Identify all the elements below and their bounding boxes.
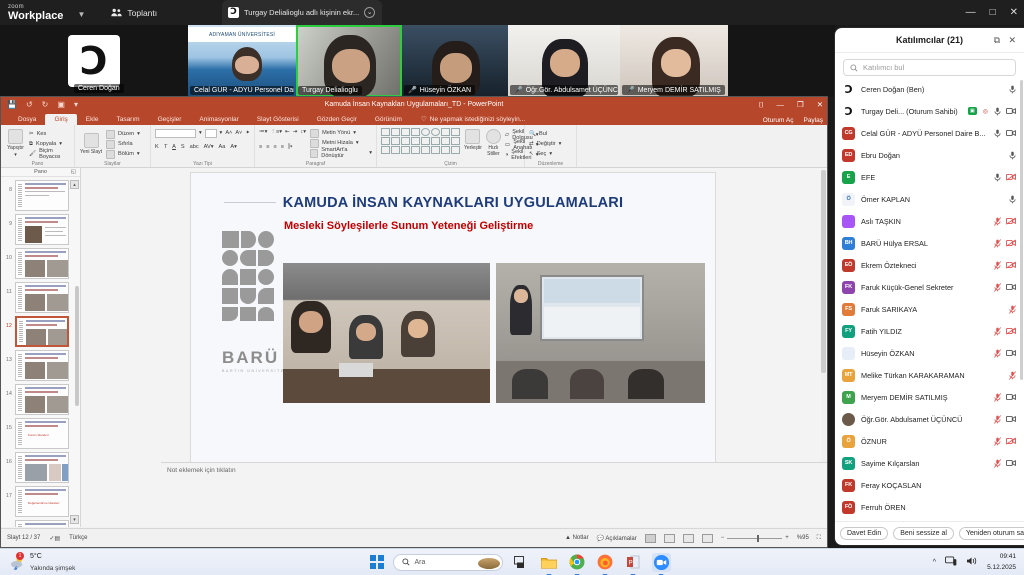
camera-icon xyxy=(1006,459,1016,467)
avatar: BH xyxy=(842,237,855,250)
participant-name: Ebru Doğan xyxy=(861,151,1003,160)
avatar: Ö xyxy=(842,193,855,206)
mic-off-icon xyxy=(1009,371,1016,380)
clear-format-icon[interactable]: ✦ xyxy=(245,130,250,136)
paste-icon xyxy=(8,129,23,144)
mic-off-icon xyxy=(994,327,1001,336)
participant-media-icons xyxy=(994,261,1016,270)
sign-in-button[interactable]: Oturum Aç xyxy=(763,117,794,124)
text-direction-button[interactable]: Metin Yönü▾ xyxy=(310,128,372,138)
slide-thumbnail-preview: Değerlendirme İdareleri xyxy=(15,486,69,517)
columns-icon[interactable]: ⫿▾ xyxy=(288,144,293,151)
thumbnail-pane-label: Pano xyxy=(34,169,47,175)
ribbon-group-slides: Yeni Slayt Düzen▾ Sıfırla Bölüm▾ Slaytla… xyxy=(75,125,151,167)
participant-row[interactable]: SKSayime Kılçarslan xyxy=(835,452,1024,474)
search-icon xyxy=(402,558,410,566)
language-indicator[interactable]: Türkçe xyxy=(69,535,87,541)
character-spacing-icon[interactable]: AV▾ xyxy=(204,144,214,150)
participant-media-icons xyxy=(994,173,1016,182)
minimize-button[interactable]: — xyxy=(776,100,784,109)
participant-media-icons xyxy=(994,459,1016,468)
invite-button[interactable]: Davet Edin xyxy=(840,527,888,540)
ribbon-tab-geçişler[interactable]: Geçişler xyxy=(149,116,191,125)
windows-taskbar: 1 5°C Yakında şimşek Ara xyxy=(0,548,1024,575)
strikethrough-button[interactable]: abc xyxy=(190,144,199,150)
volume-icon[interactable] xyxy=(966,553,978,571)
layout-button[interactable]: Düzen▾ xyxy=(106,129,140,139)
powerpoint-window-controls: ⌷ — ❐ ✕ xyxy=(759,100,823,110)
participant-name: BARÜ Hülya ERSAL xyxy=(861,239,988,248)
select-button[interactable]: ↖Seç▾ xyxy=(529,149,572,159)
meeting-tab-more-icon[interactable]: ⌄ xyxy=(364,7,375,18)
participant-row[interactable]: FKFeray KOÇASLAN xyxy=(835,474,1024,496)
align-left-icon[interactable]: ≡ xyxy=(259,144,262,150)
restore-button[interactable]: ❐ xyxy=(797,100,804,109)
new-slide-button[interactable]: Yeni Slayt xyxy=(79,127,103,159)
participant-row[interactable]: BHBARÜ Hülya ERSAL xyxy=(835,232,1024,254)
participant-row[interactable]: Hüseyin ÖZKAN xyxy=(835,342,1024,364)
ribbon-group-clipboard: Yapıştır ▾ ✂Kes ⧉Kopyala▾ 🖌Biçim Boyacıs… xyxy=(1,125,75,167)
new-slide-icon xyxy=(84,133,99,148)
reset-button[interactable]: Sıfırla xyxy=(106,139,140,149)
meeting-tab-label: Turgay Delialioglu adlı kişinin ekr... xyxy=(244,8,359,17)
host-badge: ▣ xyxy=(968,107,977,115)
ribbon-group-label: Çizim xyxy=(377,161,524,167)
meeting-tab[interactable]: Ɔ Turgay Delialioglu adlı kişinin ekr...… xyxy=(222,0,382,25)
participant-media-icons xyxy=(994,239,1016,248)
task-view-icon[interactable] xyxy=(512,553,531,572)
replace-button[interactable]: ⇄Değiştir▾ xyxy=(529,139,572,149)
mic-off-icon xyxy=(994,349,1001,358)
slide-brand: BARÜ BARTIN ÜNİVERSİTESİ xyxy=(222,348,291,373)
participant-media-icons xyxy=(994,129,1016,138)
ribbon-tab-slayt-gösterisi[interactable]: Slayt Gösterisi xyxy=(248,116,308,125)
taskbar-apps: Ara P xyxy=(370,553,671,572)
bullets-icon[interactable]: ≔▾ xyxy=(259,129,267,135)
participant-row[interactable]: MMeryem DEMİR SATILMIŞ xyxy=(835,386,1024,408)
weather-description: Yakında şimşek xyxy=(30,565,75,572)
avatar xyxy=(842,413,855,426)
slide-thumbnail-preview: Kurum İdareleri xyxy=(15,418,69,449)
ribbon-tab-giriş[interactable]: Giriş xyxy=(45,114,76,125)
zoom-brand-small: zoom xyxy=(8,4,63,10)
slide-thumbnail-number: 14 xyxy=(3,384,12,397)
bold-button[interactable]: K xyxy=(155,144,159,150)
avatar: M xyxy=(842,391,855,404)
video-tile-active-speaker[interactable]: Turgay Delialioglu xyxy=(296,25,402,97)
camera-icon xyxy=(1006,129,1016,137)
camera-off-icon xyxy=(1006,327,1016,335)
people-icon xyxy=(111,8,122,17)
slide-thumbnail-number: 15 xyxy=(3,418,12,431)
increase-font-icon[interactable]: A˄ xyxy=(225,130,232,136)
slide-counter: Slayt 12 / 37 xyxy=(7,535,40,541)
participant-name: Fatih YILDIZ xyxy=(861,327,988,336)
camera-icon xyxy=(1006,393,1016,401)
windows-start-icon[interactable] xyxy=(370,555,384,569)
camera-icon xyxy=(1006,107,1016,115)
close-button[interactable]: ✕ xyxy=(817,100,823,109)
close-icon[interactable]: ✕ xyxy=(1008,35,1016,46)
search-icon xyxy=(850,64,858,72)
zoom-out-icon[interactable]: − xyxy=(721,535,725,541)
slide-editor[interactable]: KAMUDA İNSAN KAYNAKLARI UYGULAMALARI Mes… xyxy=(81,168,827,527)
normal-view-button[interactable] xyxy=(645,534,656,543)
participant-row[interactable]: FSFaruk SARIKAYA xyxy=(835,298,1024,320)
notes-pane[interactable]: Not eklemek için tıklatın xyxy=(161,462,827,527)
participant-row[interactable]: FKFaruk Küçük-Genel Sekreter xyxy=(835,276,1024,298)
zoom-level: %95 xyxy=(797,535,809,541)
increase-indent-icon[interactable]: ⇥ xyxy=(293,129,298,135)
video-tile[interactable]: 🎤 Öğr.Gör. Abdulsamet ÜÇÜNCÜ xyxy=(508,25,620,97)
slide-thumbnail-preview xyxy=(15,316,69,347)
search-icon: 🔍 xyxy=(529,131,536,137)
participant-media-icons xyxy=(994,327,1016,336)
comments-button[interactable]: 💬 Açıklamalar xyxy=(597,535,637,542)
participant-row[interactable]: FYFatih YILDIZ xyxy=(835,320,1024,342)
mic-off-icon xyxy=(1009,305,1016,314)
clock-date: 5.12.2025 xyxy=(987,564,1016,571)
slide-title: KAMUDA İNSAN KAYNAKLARI UYGULAMALARI xyxy=(191,195,715,211)
zoom-minimize-button[interactable]: — xyxy=(966,7,976,18)
spellcheck-icon[interactable]: ✓▤ xyxy=(49,535,60,542)
mic-off-icon xyxy=(994,283,1001,292)
participant-media-icons xyxy=(994,415,1016,424)
slide-thumbnail-preview xyxy=(15,350,69,381)
powerpoint-status-bar: Slayt 12 / 37 ✓▤ Türkçe ▲ Notlar 💬 Açıkl… xyxy=(1,528,827,547)
participant-row[interactable]: Aslı TAŞKIN xyxy=(835,210,1024,232)
participant-media-icons xyxy=(994,217,1016,226)
camera-icon xyxy=(1006,349,1016,357)
participants-panel-title: Katılımcılar (21) xyxy=(896,35,963,45)
notes-button[interactable]: ▲ Notlar xyxy=(565,535,589,541)
scroll-up-icon[interactable]: ▴ xyxy=(70,180,79,189)
collapse-icon[interactable]: ◱ xyxy=(71,169,76,175)
convert-smartart-button[interactable]: SmartArt'a Dönüştür▾ xyxy=(310,148,372,158)
participant-row[interactable]: Öğr.Gör. Abdulsamet ÜÇÜNCÜ xyxy=(835,408,1024,430)
video-tile-name: Ceren Doğan xyxy=(74,84,124,93)
participant-name: Ömer KAPLAN xyxy=(861,195,1003,204)
current-slide[interactable]: KAMUDA İNSAN KAYNAKLARI UYGULAMALARI Mes… xyxy=(191,173,715,469)
slide-thumbnail[interactable]: 18 xyxy=(1,517,80,527)
search-placeholder: Ara xyxy=(415,559,426,566)
participant-name: Ceren Doğan (Ben) xyxy=(861,85,1003,94)
mic-off-icon xyxy=(994,261,1001,270)
section-button[interactable]: Bölüm▾ xyxy=(106,149,140,159)
paste-button[interactable]: Yapıştır ▾ xyxy=(5,127,26,159)
format-painter-button[interactable]: 🖌Biçim Boyacısı xyxy=(29,149,70,159)
participants-panel-header: Katılımcılar (21) ⧉ ✕ xyxy=(835,28,1024,53)
video-tile[interactable]: ADIYAMAN ÜNİVERSİTESİ Celal GÜR - ADYÜ P… xyxy=(188,25,296,97)
font-family-input[interactable] xyxy=(155,129,196,138)
zoom-icon[interactable] xyxy=(652,553,671,572)
mic-off-icon xyxy=(994,459,1001,468)
fit-to-window-icon[interactable]: ⛶ xyxy=(817,535,821,542)
participant-row[interactable]: EÖEkrem Öztekneci xyxy=(835,254,1024,276)
slide-sorter-button[interactable] xyxy=(664,534,675,543)
ribbon-group-label: Slaytlar xyxy=(75,161,150,167)
slide-thumbnail-number: 12 xyxy=(3,316,12,329)
mic-icon xyxy=(1009,151,1016,160)
replace-icon: ⇄ xyxy=(529,141,534,147)
effects-icon: ◑ xyxy=(505,152,508,158)
slide-thumbnail[interactable]: 13 xyxy=(1,347,80,381)
participant-name: Ekrem Öztekneci xyxy=(861,261,988,270)
search-input[interactable]: Ara xyxy=(393,554,503,571)
zoom-brand-big: Workplace xyxy=(8,11,63,22)
participant-name: Aslı TAŞKIN xyxy=(861,217,988,226)
avatar: Ɔ xyxy=(842,105,855,118)
thumbnail-list[interactable]: 89101112131415Kurum İdareleri1617Değerle… xyxy=(1,177,80,527)
find-button[interactable]: 🔍Bul xyxy=(529,129,572,139)
zoom-titlebar: zoom Workplace ▼ Toplantı Ɔ Turgay Delia… xyxy=(0,0,1024,25)
paste-dropdown-icon[interactable]: ▾ xyxy=(14,152,17,158)
avatar: ED xyxy=(842,149,855,162)
taskbar-weather-widget[interactable]: 1 5°C Yakında şimşek xyxy=(0,552,75,573)
align-text-icon xyxy=(310,139,319,148)
video-tile-name: 🎤 Hüseyin ÖZKAN xyxy=(404,85,475,95)
quick-styles-icon xyxy=(486,129,501,144)
avatar: FÖ xyxy=(842,501,855,514)
thumbnail-pane-header: Pano ◱ xyxy=(1,168,80,177)
scissors-icon: ✂ xyxy=(29,131,34,137)
participant-row[interactable]: ƆTurgay Deli... (Oturum Sahibi)▣◎ xyxy=(835,100,1024,122)
ribbon-group-label: Pano xyxy=(1,161,74,167)
show-hidden-icons-chevron[interactable]: ^ xyxy=(933,559,936,566)
slide-thumbnail-preview xyxy=(15,214,69,245)
editor-scrollbar[interactable] xyxy=(821,170,826,509)
participant-name: Turgay Deli... (Oturum Sahibi) xyxy=(861,107,962,116)
chrome-icon[interactable] xyxy=(568,553,587,572)
justify-icon[interactable]: ≡ xyxy=(281,144,284,150)
participant-name: Öğr.Gör. Abdulsamet ÜÇÜNCÜ xyxy=(861,415,988,424)
avatar: Ɔ xyxy=(68,35,120,87)
participant-row[interactable]: FÖFerruh ÖREN xyxy=(835,496,1024,518)
participant-row[interactable]: ÖÖmer KAPLAN xyxy=(835,188,1024,210)
popout-icon[interactable]: ⧉ xyxy=(994,35,1000,46)
nav-meetings[interactable]: Toplantı xyxy=(111,8,157,18)
participant-media-icons xyxy=(1009,305,1016,314)
system-tray: ^ 09:41 5.12.2025 xyxy=(933,553,1016,572)
mic-off-icon: 🎤 xyxy=(408,86,417,94)
ribbon: Yapıştır ▾ ✂Kes ⧉Kopyala▾ 🖌Biçim Boyacıs… xyxy=(1,125,827,168)
nav-meetings-label: Toplantı xyxy=(127,8,157,18)
office-icon[interactable]: P xyxy=(624,553,643,572)
participant-name: Melike Türkan KARAKARAMAN xyxy=(861,371,1003,380)
participant-name: Hüseyin ÖZKAN xyxy=(861,349,988,358)
weather-icon: 1 xyxy=(10,555,25,570)
italic-button[interactable]: T xyxy=(164,144,167,150)
participants-search-input[interactable]: Katılımcı bul xyxy=(843,59,1016,76)
camera-off-icon xyxy=(1006,437,1016,445)
font-size-input[interactable] xyxy=(205,129,217,138)
mute-me-button[interactable]: Beni sessize al xyxy=(893,527,954,540)
ribbon-tab-dosya[interactable]: Dosya xyxy=(9,116,45,125)
powerpoint-window: 💾 ↺ ↻ ▣ ▾ Kamuda İnsan Kaynakları Uygula… xyxy=(0,96,828,548)
slide-brand-subtitle: BARTIN ÜNİVERSİTESİ xyxy=(222,369,291,373)
decrease-font-icon[interactable]: A˅ xyxy=(235,130,242,136)
text-direction-icon xyxy=(310,129,319,138)
video-tile[interactable]: 🎤 Meryem DEMİR SATILMIŞ xyxy=(620,25,728,97)
participant-media-icons xyxy=(994,437,1016,446)
decrease-indent-icon[interactable]: ⇤ xyxy=(285,129,290,135)
camera-off-icon xyxy=(1006,239,1016,247)
file-explorer-icon[interactable] xyxy=(540,553,559,572)
reset-icon xyxy=(106,140,115,149)
scroll-down-icon[interactable]: ▾ xyxy=(70,515,79,524)
search-highlight-image xyxy=(478,558,500,569)
participant-name: EFE xyxy=(861,173,988,182)
line-spacing-icon[interactable]: ↕▾ xyxy=(300,129,306,135)
ribbon-tab-animasyonlar[interactable]: Animasyonlar xyxy=(190,116,247,125)
participants-list[interactable]: ƆCeren Doğan (Ben)ƆTurgay Deli... (Oturu… xyxy=(835,78,1024,521)
ribbon-right-actions: Oturum Aç Paylaş xyxy=(763,117,823,124)
zoom-maximize-button[interactable]: □ xyxy=(990,7,996,18)
participants-scrollbar[interactable] xyxy=(1020,80,1023,380)
ribbon-group-font: ▾ ▾ A˄A˅ ✦ K T A S abc AV▾ Aa A▾ Yazı Ti… xyxy=(151,125,255,167)
smartart-icon xyxy=(310,149,318,158)
underline-button[interactable]: A xyxy=(172,144,176,150)
shadow-button[interactable]: S xyxy=(181,144,185,150)
tell-me-label: Ne yapmak istediğinizi söyleyin... xyxy=(430,116,525,123)
participant-media-icons xyxy=(994,283,1016,292)
slide-thumbnail-number: 16 xyxy=(3,452,12,465)
thumbnail-scrollbar[interactable] xyxy=(75,286,79,406)
participants-search-placeholder: Katılımcı bul xyxy=(863,63,904,72)
align-right-icon[interactable]: ≡ xyxy=(274,144,277,150)
participant-row[interactable]: EEFE xyxy=(835,166,1024,188)
participant-row[interactable]: ÖÖZNUR xyxy=(835,430,1024,452)
slide-thumbnail[interactable]: 8 xyxy=(1,177,80,211)
slide-thumbnail[interactable]: 11 xyxy=(1,279,80,313)
slide-thumbnail[interactable]: 12 xyxy=(1,313,80,347)
video-tile-self[interactable]: Ɔ Ceren Doğan xyxy=(0,25,188,97)
ribbon-group-label: Paragraf xyxy=(255,161,376,167)
video-tile-name: Celal GÜR - ADYÜ Personel Dair... xyxy=(190,86,294,95)
slide-thumbnail-number: 18 xyxy=(3,520,12,527)
avatar: CG xyxy=(842,127,855,140)
participant-name: Feray KOÇASLAN xyxy=(861,481,1010,490)
taskbar-clock[interactable]: 09:41 5.12.2025 xyxy=(987,553,1016,572)
zoom-in-icon[interactable]: + xyxy=(785,535,789,541)
participant-name: ÖZNUR xyxy=(861,437,988,446)
zoom-close-button[interactable]: ✕ xyxy=(1010,7,1018,18)
tell-me-search[interactable]: ♡ Ne yapmak istediğinizi söyleyin... xyxy=(421,115,525,125)
avatar: Ö xyxy=(842,435,855,448)
participant-name: Celal GÜR - ADYÜ Personel Daire B... xyxy=(861,129,988,138)
participant-row[interactable]: MTMelike Türkan KARAKARAMAN xyxy=(835,364,1024,386)
ribbon-tab-tasarım[interactable]: Tasarım xyxy=(107,116,148,125)
ribbon-group-drawing: Yerleştir Hızlı Stiller ▱Şekil Dolgusu▾ … xyxy=(377,125,525,167)
ribbon-tab-görünüm[interactable]: Görünüm xyxy=(366,116,411,125)
video-tile[interactable]: 🎤 Hüseyin ÖZKAN xyxy=(402,25,508,97)
participant-row[interactable]: CGCelal GÜR - ADYÜ Personel Daire B... xyxy=(835,122,1024,144)
slideshow-button[interactable] xyxy=(702,534,713,543)
reading-view-button[interactable] xyxy=(683,534,694,543)
participant-media-icons xyxy=(1009,85,1016,94)
ribbon-tab-gözden-geçir[interactable]: Gözden Geçir xyxy=(308,116,366,125)
participant-row[interactable]: ƆCeren Doğan (Ben) xyxy=(835,78,1024,100)
decorative-pattern xyxy=(222,231,274,341)
lightbulb-icon: ♡ xyxy=(421,115,427,123)
slide-thumbnail-pane[interactable]: Pano ◱ 89101112131415Kurum İdareleri1617… xyxy=(1,168,81,527)
slide-thumbnail-number: 10 xyxy=(3,248,12,261)
slide-thumbnail[interactable]: 14 xyxy=(1,381,80,415)
mic-icon xyxy=(1009,195,1016,204)
participant-media-icons xyxy=(994,349,1016,358)
mic-off-icon xyxy=(994,217,1001,226)
section-icon xyxy=(106,150,115,159)
brush-icon: 🖌 xyxy=(29,151,36,157)
mic-off-icon xyxy=(994,437,1001,446)
align-center-icon[interactable]: ≡ xyxy=(266,144,269,150)
camera-off-icon xyxy=(1006,217,1016,225)
avatar: FY xyxy=(842,325,855,338)
reclaim-host-button[interactable]: Yeniden oturum sahibi o xyxy=(959,527,1024,540)
mic-icon xyxy=(1009,85,1016,94)
ribbon-tab-ekle[interactable]: Ekle xyxy=(77,116,108,125)
participant-row[interactable]: EDEbru Doğan xyxy=(835,144,1024,166)
mic-off-icon: 🎤 xyxy=(626,86,635,94)
zoom-slider-knob[interactable] xyxy=(757,535,759,542)
change-case-button[interactable]: Aa xyxy=(219,144,226,150)
cut-button[interactable]: ✂Kes xyxy=(29,129,70,139)
fill-icon: ▱ xyxy=(505,132,509,138)
participant-media-icons xyxy=(1009,195,1016,204)
participants-panel-footer: Davet Edin Beni sessize al Yeniden oturu… xyxy=(835,521,1024,545)
share-button[interactable]: Paylaş xyxy=(803,117,823,124)
participant-media-icons xyxy=(994,393,1016,402)
slide-photo-left xyxy=(283,263,490,403)
slide-thumbnail-preview xyxy=(15,180,69,211)
chevron-down-icon[interactable]: ▼ xyxy=(77,10,85,19)
outline-icon: ▭ xyxy=(505,142,510,148)
slide-thumbnail-preview xyxy=(15,520,69,527)
arrange-icon xyxy=(465,129,480,144)
video-tile-name: Turgay Delialioglu xyxy=(298,86,362,95)
slide-thumbnail[interactable]: 15Kurum İdareleri xyxy=(1,415,80,449)
slide-thumbnail-preview xyxy=(15,452,69,483)
font-color-icon[interactable]: A▾ xyxy=(230,144,237,150)
avatar xyxy=(842,215,855,228)
firefox-icon[interactable] xyxy=(596,553,615,572)
network-icon[interactable] xyxy=(945,553,957,571)
participant-name: Faruk Küçük-Genel Sekreter xyxy=(861,283,988,292)
quick-styles-button[interactable]: Hızlı Stiller xyxy=(486,128,501,157)
avatar: SK xyxy=(842,457,855,470)
notification-badge: 1 xyxy=(16,552,24,560)
ribbon-display-options-icon[interactable]: ⌷ xyxy=(759,100,764,110)
slide-thumbnail[interactable]: 17Değerlendirme İdareleri xyxy=(1,483,80,517)
ribbon-tabs[interactable]: DosyaGirişEkleTasarımGeçişlerAnimasyonla… xyxy=(1,112,827,125)
ribbon-group-label: Yazı Tipi xyxy=(151,161,254,167)
mic-icon xyxy=(994,107,1001,116)
camera-off-icon xyxy=(1006,261,1016,269)
notes-placeholder: Not eklemek için tıklatın xyxy=(161,463,827,474)
slide-thumbnail[interactable]: 10 xyxy=(1,245,80,279)
slide-thumbnail-number: 11 xyxy=(3,282,12,295)
slide-thumbnail[interactable]: 16 xyxy=(1,449,80,483)
participant-media-icons xyxy=(1009,151,1016,160)
numbering-icon[interactable]: ⋮≡▾ xyxy=(270,129,282,135)
arrange-button[interactable]: Yerleştir xyxy=(464,128,482,151)
zoom-window-controls: — □ ✕ xyxy=(966,0,1018,25)
zoom-logo-icon: Ɔ xyxy=(228,7,239,18)
slide-thumbnail[interactable]: 9 xyxy=(1,211,80,245)
zoom-slider[interactable]: − + xyxy=(721,535,789,541)
shapes-gallery[interactable] xyxy=(381,128,460,154)
video-filmstrip: Ɔ Ceren Doğan ADIYAMAN ÜNİVERSİTESİ Cela… xyxy=(0,25,835,97)
